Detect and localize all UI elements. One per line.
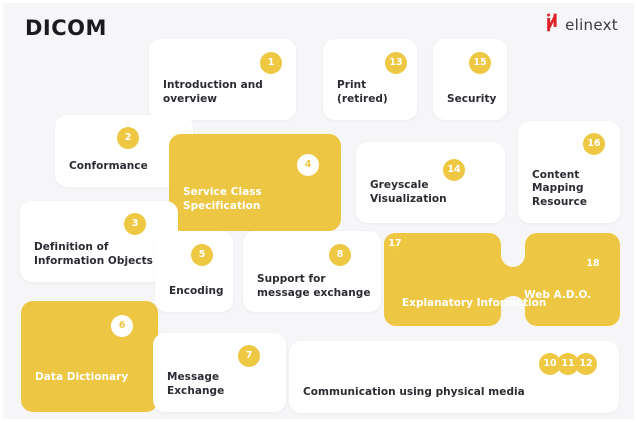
badge-group-10-11-12: 10 11 12 — [539, 353, 597, 375]
elinext-mark-icon — [545, 13, 560, 36]
card-service-class-specification[interactable]: 4 Service Class Specification — [169, 134, 341, 231]
badge-number-2: 2 — [117, 127, 139, 149]
card-label: Content Mapping Resource — [532, 169, 610, 209]
card-label: Security — [447, 93, 497, 106]
card-data-dictionary[interactable]: 6 Data Dictionary — [21, 301, 158, 412]
badge-number-1: 1 — [260, 52, 282, 74]
badge-number-5: 5 — [191, 244, 213, 266]
card-support-for-message-exchange[interactable]: 8 Support for message exchange — [243, 231, 381, 312]
card-label: Definition of Information Objects — [34, 241, 168, 268]
card-communication-using-physical-media[interactable]: 10 11 12 Communication using physical me… — [289, 341, 619, 413]
card-content-mapping-resource[interactable]: 16 Content Mapping Resource — [518, 121, 620, 223]
card-introduction-and-overview[interactable]: 1 Introduction and overview — [149, 39, 296, 120]
card-label: Web A.D.O. — [524, 289, 591, 302]
badge-number-18: 18 — [582, 253, 604, 275]
card-label: Encoding — [169, 285, 223, 298]
card-label: Introduction and overview — [163, 79, 286, 106]
elinext-wordmark: elinext — [565, 16, 618, 34]
card-label: Message Exchange — [167, 371, 276, 398]
joined-card-shape — [384, 233, 620, 326]
card-label: Support for message exchange — [257, 273, 371, 300]
badge-number-6: 6 — [111, 315, 133, 337]
card-greyscale-visualization[interactable]: 14 Greyscale Visualization — [356, 142, 505, 223]
card-label: Greyscale Visualization — [370, 179, 495, 206]
badge-number-13: 13 — [385, 52, 407, 74]
badge-number-8: 8 — [329, 244, 351, 266]
badge-number-7: 7 — [238, 345, 260, 367]
badge-number-15: 15 — [469, 52, 491, 74]
card-message-exchange[interactable]: 7 Message Exchange — [153, 333, 286, 412]
elinext-logo: elinext — [545, 13, 618, 36]
page-title: DICOM — [25, 16, 107, 40]
card-encoding[interactable]: 5 Encoding — [155, 231, 233, 312]
card-print-retired[interactable]: 13 Print (retired) — [323, 39, 417, 120]
badge-number-14: 14 — [443, 159, 465, 181]
badge-number-4: 4 — [297, 154, 319, 176]
card-security[interactable]: 15 Security — [433, 39, 507, 120]
card-label: Data Dictionary — [35, 371, 148, 384]
card-label: Communication using physical media — [303, 386, 609, 399]
card-label: Conformance — [69, 160, 183, 173]
card-label: Service Class Specification — [183, 186, 331, 213]
card-label: Print (retired) — [337, 79, 407, 106]
badge-number-12: 12 — [575, 353, 597, 375]
badge-number-16: 16 — [583, 133, 605, 155]
card-group-explanatory-and-web-ado[interactable]: 17 18 Explanatory Information Web A.D.O. — [384, 233, 620, 326]
badge-number-3: 3 — [124, 213, 146, 235]
dicom-standard-diagram: DICOM elinext 1 Introduction and overvie… — [0, 0, 637, 422]
badge-number-17: 17 — [384, 233, 406, 255]
